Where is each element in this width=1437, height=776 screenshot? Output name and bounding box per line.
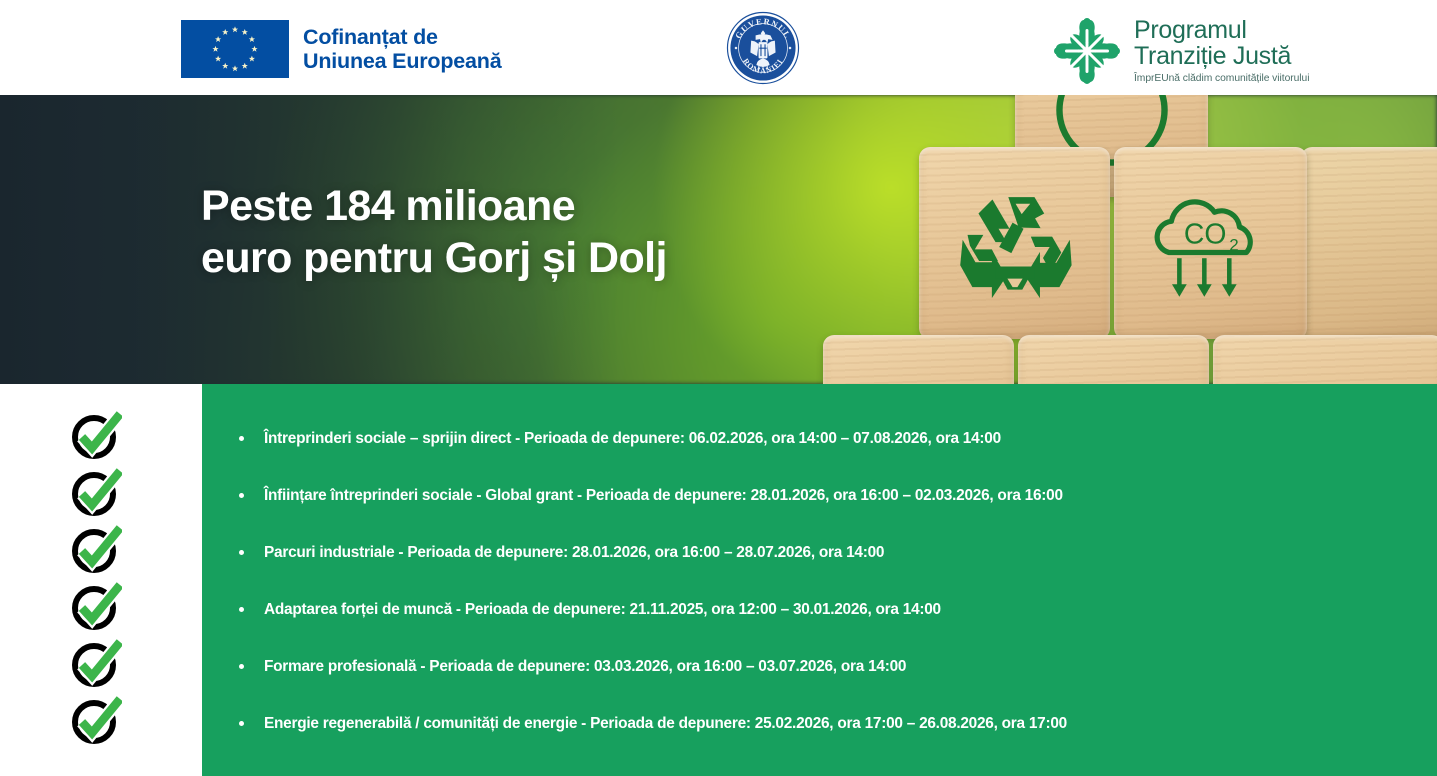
bullet-dot-icon [239, 550, 244, 555]
down-arrows-icon [1172, 258, 1237, 297]
eu-text-line1: Cofinanțat de [303, 25, 502, 49]
bullet-dot-icon [239, 493, 244, 498]
eu-text-line2: Uniunea Europeană [303, 49, 502, 73]
check-circle-icon [70, 637, 122, 689]
eu-flag-icon [181, 20, 289, 78]
list-item: Parcuri industriale - Perioada de depune… [235, 524, 1430, 581]
check-circle-icon [70, 523, 122, 575]
eu-stars-circle-icon [181, 20, 289, 78]
logo-bar: Cofinanțat de Uniunea Europeană GUVERNUL… [0, 0, 1437, 95]
bullet-dot-icon [239, 664, 244, 669]
list-item-label: Parcuri industriale - Perioada de depune… [264, 544, 884, 562]
wooden-blocks-photo: CO 2 [897, 95, 1437, 384]
wooden-block-recycle [919, 147, 1110, 339]
check-circle-icon [70, 580, 122, 632]
programul-tranzitie-justa-logo: Programul Tranziție Justă ÎmprEUnă clădi… [1050, 14, 1309, 84]
list-item-label: Înființare întreprinderi sociale - Globa… [264, 487, 1063, 505]
green-leaf-rosette-icon [1050, 18, 1124, 84]
wooden-block-co2: CO 2 [1114, 147, 1307, 339]
check-circle-icon [70, 466, 122, 518]
hero-headline-line1: Peste 184 milioane [201, 180, 667, 232]
checkmark-column [0, 384, 202, 776]
ptj-title-line1: Programul [1134, 17, 1309, 43]
bullet-dot-icon [239, 721, 244, 726]
hero-banner: CO 2 Peste 184 m [0, 95, 1437, 384]
check-circle-icon [70, 694, 122, 746]
list-item: Adaptarea forței de muncă - Perioada de … [235, 581, 1430, 638]
wooden-block-background [1301, 147, 1437, 339]
ptj-tagline: ÎmprEUnă clădim comunitățile viitorului [1134, 73, 1309, 84]
list-item: Înființare întreprinderi sociale - Globa… [235, 467, 1430, 524]
list-item-label: Formare profesională - Perioada de depun… [264, 658, 906, 676]
measures-list-panel: Întreprinderi sociale – sprijin direct -… [202, 384, 1437, 776]
eu-cofunding-logo: Cofinanțat de Uniunea Europeană [181, 20, 502, 78]
measures-list: Întreprinderi sociale – sprijin direct -… [235, 410, 1430, 752]
ptj-title-line2: Tranziție Justă [1134, 43, 1309, 69]
wooden-block-bottom-middle [1018, 335, 1209, 384]
hero-headline-line2: euro pentru Gorj și Dolj [201, 232, 667, 284]
recycle-symbol-icon [953, 191, 1077, 303]
ptj-title: Programul Tranziție Justă [1134, 17, 1309, 69]
co2-subscript: 2 [1229, 235, 1238, 254]
wooden-block-bottom-right [1213, 335, 1437, 384]
ptj-wordmark: Programul Tranziție Justă ÎmprEUnă clădi… [1134, 14, 1309, 84]
wooden-block-bottom-left [823, 335, 1014, 384]
co2-cloud-down-arrows-icon: CO 2 [1141, 189, 1279, 307]
hero-headline: Peste 184 milioane euro pentru Gorj și D… [201, 180, 667, 285]
list-item-label: Adaptarea forței de muncă - Perioada de … [264, 601, 941, 619]
co2-label: CO [1184, 218, 1227, 250]
eu-cofunding-text: Cofinanțat de Uniunea Europeană [303, 25, 502, 74]
list-item-label: Energie regenerabilă / comunități de ene… [264, 715, 1067, 733]
bullet-dot-icon [239, 607, 244, 612]
check-circle-icon [70, 409, 122, 461]
bullet-dot-icon [239, 436, 244, 441]
list-item: Formare profesională - Perioada de depun… [235, 638, 1430, 695]
poster-page: Cofinanțat de Uniunea Europeană GUVERNUL… [0, 0, 1437, 776]
romanian-government-seal-icon: GUVERNUL ROMÂNIEI [726, 11, 800, 85]
list-item-label: Întreprinderi sociale – sprijin direct -… [264, 430, 1001, 448]
list-item: Energie regenerabilă / comunități de ene… [235, 695, 1430, 752]
list-item: Întreprinderi sociale – sprijin direct -… [235, 410, 1430, 467]
